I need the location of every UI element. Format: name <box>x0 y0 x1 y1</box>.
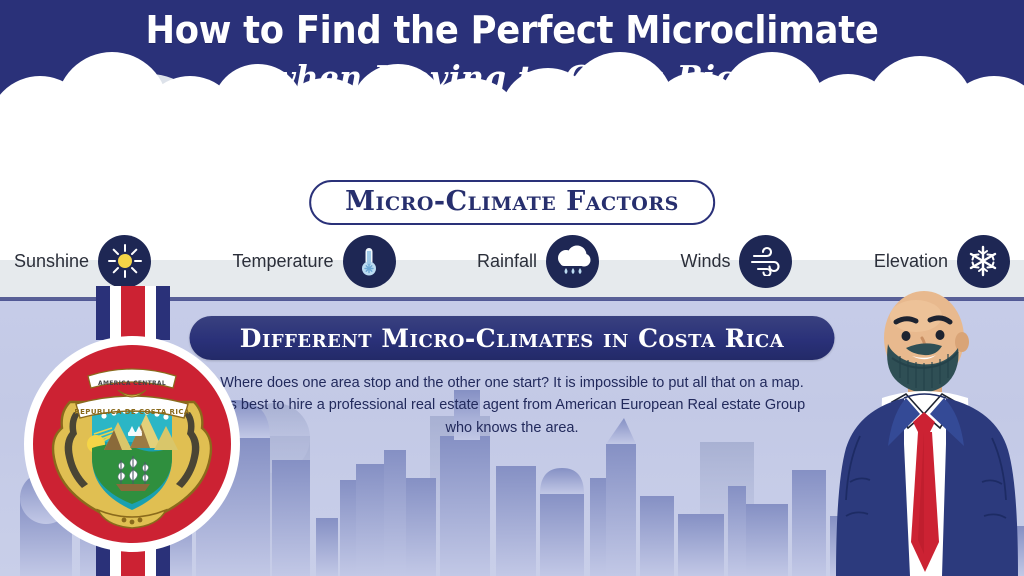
emblem-ribbon-top <box>96 286 170 340</box>
businessman-illustration <box>820 286 1024 576</box>
sun-icon <box>98 235 151 288</box>
factor-sunshine[interactable]: Sunshine <box>14 235 151 288</box>
rain-cloud-icon <box>546 235 599 288</box>
climates-heading-text: Different Micro-Climates in Costa Rica <box>240 324 784 353</box>
climates-heading-banner: Different Micro-Climates in Costa Rica <box>190 316 835 360</box>
climates-body-paragraph: Where does one area stop and the other o… <box>210 372 814 439</box>
factor-winds[interactable]: Winds <box>680 235 792 288</box>
svg-text:AMERICA CENTRAL: AMERICA CENTRAL <box>98 380 166 387</box>
factor-rainfall-label: Rainfall <box>477 251 537 272</box>
factor-winds-label: Winds <box>680 251 730 272</box>
factor-sunshine-label: Sunshine <box>14 251 89 272</box>
factor-rainfall[interactable]: Rainfall <box>477 235 599 288</box>
snowflake-icon <box>957 235 1010 288</box>
factor-temperature-label: Temperature <box>233 251 334 272</box>
factors-heading-text: Micro-Climate Factors <box>345 186 679 217</box>
factor-temperature[interactable]: Temperature <box>233 235 396 288</box>
svg-text:REPUBLICA DE COSTA RICA: REPUBLICA DE COSTA RICA <box>74 408 190 416</box>
infographic-canvas: How to Find the Perfect Microclimate whe… <box>0 0 1024 576</box>
factor-elevation-label: Elevation <box>874 251 948 272</box>
wind-icon <box>739 235 792 288</box>
micro-climate-factors-row: Sunshine Tempe <box>0 231 1024 291</box>
thermometer-icon <box>343 235 396 288</box>
costa-rica-coat-of-arms: REPUBLICA DE COSTA RICA AMERICA CENTRAL <box>18 286 246 576</box>
factor-elevation[interactable]: Elevation <box>874 235 1010 288</box>
factors-heading-pill: Micro-Climate Factors <box>309 180 715 225</box>
